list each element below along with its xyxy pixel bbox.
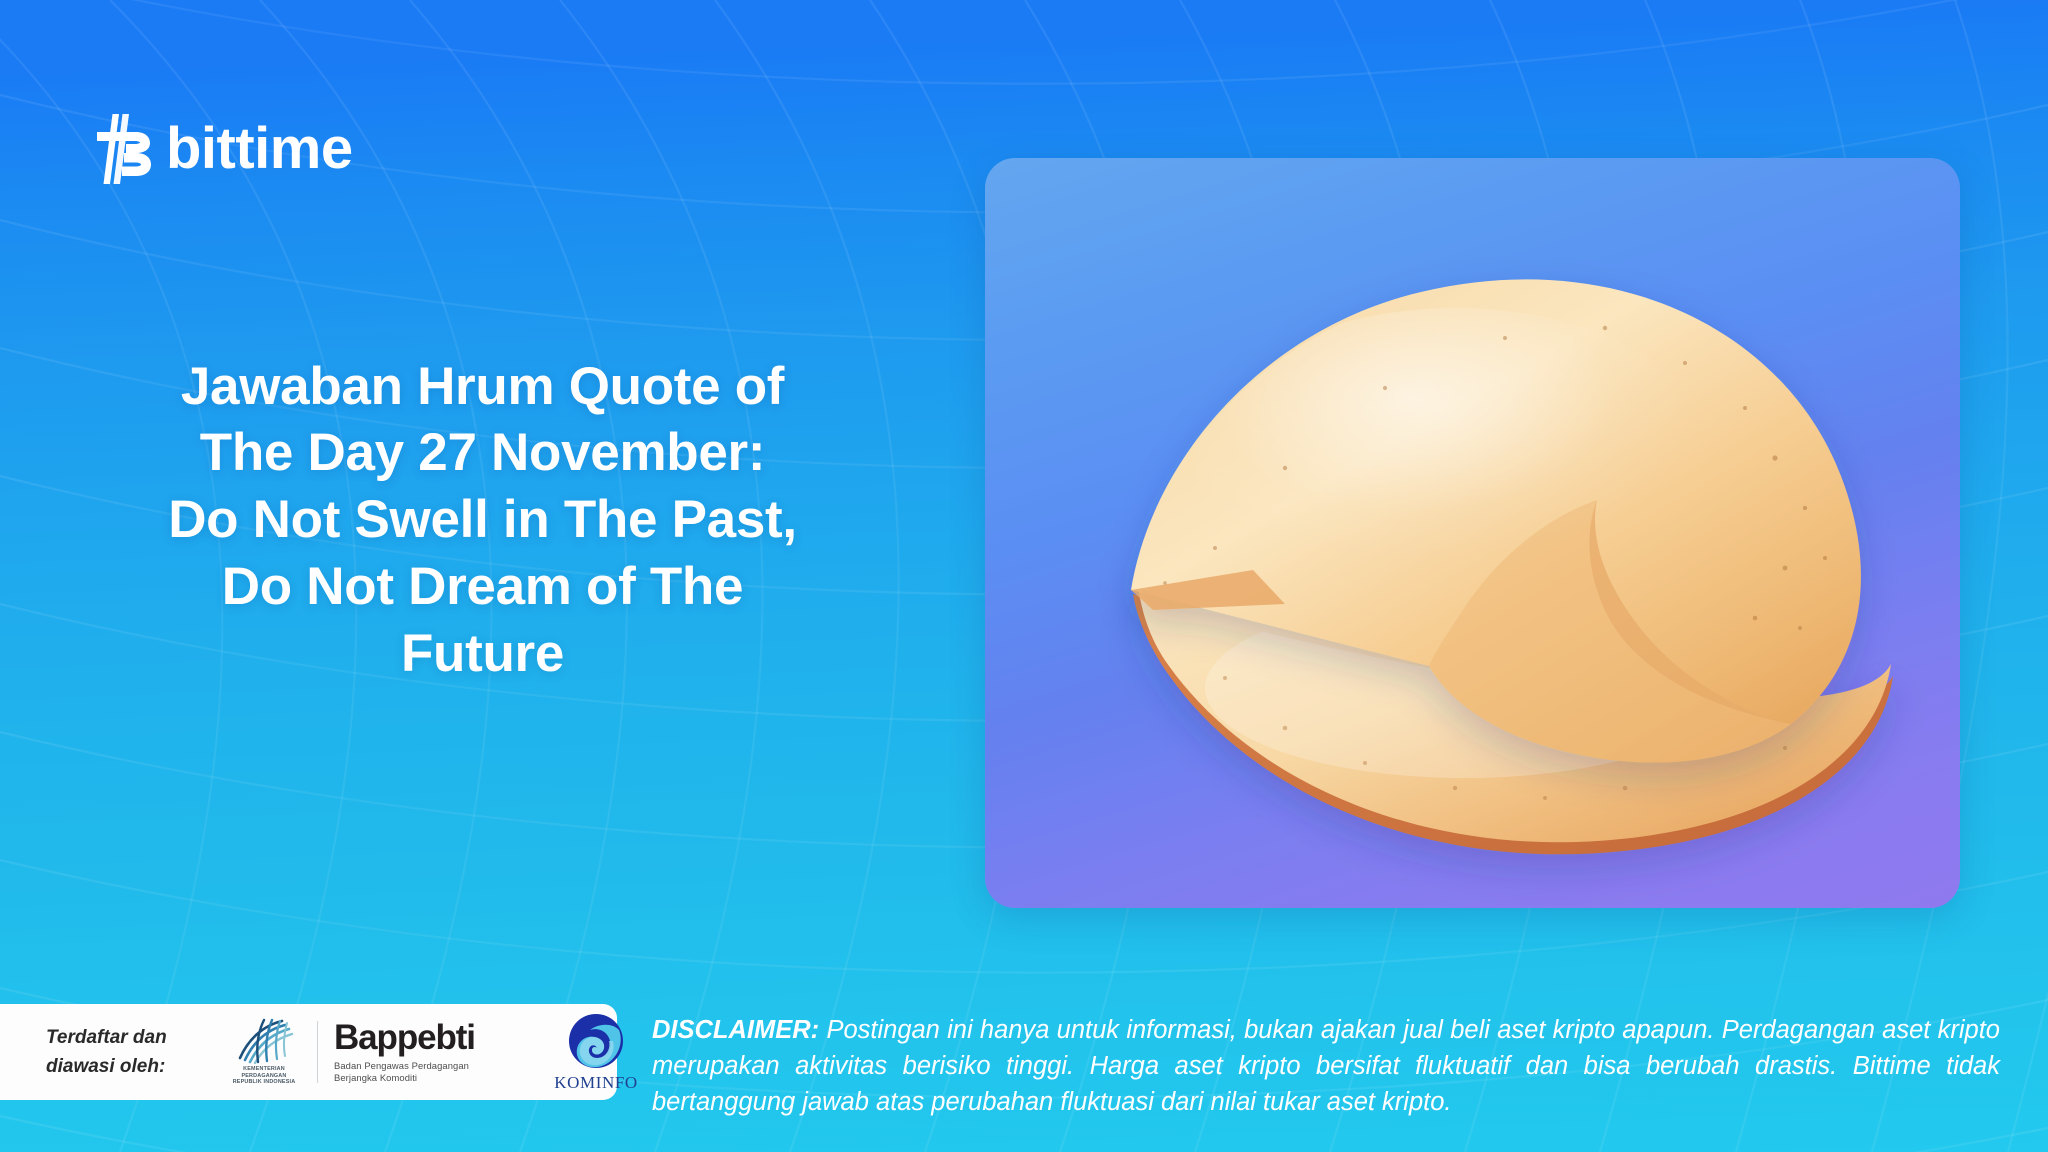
brand-name: bittime xyxy=(166,120,353,178)
bappebti-sub-line1: Badan Pengawas Perdagangan xyxy=(334,1060,534,1072)
kemendag-caption: KEMENTERIAN PERDAGANGAN REPUBLIK INDONES… xyxy=(233,1066,296,1086)
bappebti-title: Bappebti xyxy=(334,1020,534,1055)
badge-lead-line1: Terdaftar dan xyxy=(46,1023,221,1052)
bappebti-subtitle: Badan Pengawas Perdagangan Berjangka Kom… xyxy=(334,1060,534,1085)
hero-image-card xyxy=(985,158,1960,908)
headline-line: Future xyxy=(60,621,905,688)
badge-divider xyxy=(317,1021,318,1083)
kemendag-caption-line1: KEMENTERIAN xyxy=(233,1066,296,1073)
poster-canvas: bittime Jawaban Hrum Quote of The Day 27… xyxy=(0,0,2048,1152)
kementerian-perdagangan-logo-icon xyxy=(234,1018,294,1064)
kementerian-perdagangan-logo: KEMENTERIAN PERDAGANGAN REPUBLIK INDONES… xyxy=(225,1015,303,1089)
badge-lead-line2: diawasi oleh: xyxy=(46,1052,221,1081)
kominfo-logo: KOMINFO xyxy=(548,1012,644,1093)
kemendag-caption-line3: REPUBLIK INDONESIA xyxy=(233,1079,296,1086)
headline-line: Do Not Swell in The Past, xyxy=(60,487,905,554)
brand-logo[interactable]: bittime xyxy=(92,112,353,186)
headline-line: The Day 27 November: xyxy=(60,420,905,487)
badge-lead-text: Terdaftar dan diawasi oleh: xyxy=(46,1023,221,1082)
bappebti-logo: Bappebti Badan Pengawas Perdagangan Berj… xyxy=(334,1020,534,1085)
disclaimer-label: DISCLAIMER: xyxy=(652,1016,819,1044)
kemendag-caption-line2: PERDAGANGAN xyxy=(233,1073,296,1080)
page-title: Jawaban Hrum Quote of The Day 27 Novembe… xyxy=(60,354,905,688)
fortune-cookie-illustration xyxy=(985,158,1960,908)
headline-line: Jawaban Hrum Quote of xyxy=(60,354,905,421)
bittime-b-mark-icon xyxy=(92,112,152,186)
bappebti-sub-line2: Berjangka Komoditi xyxy=(334,1072,534,1084)
kominfo-label: KOMINFO xyxy=(554,1073,638,1093)
kominfo-swirl-logo-icon xyxy=(565,1012,627,1072)
disclaimer-body: Postingan ini hanya untuk informasi, buk… xyxy=(652,1016,2000,1116)
headline-line: Do Not Dream of The xyxy=(60,554,905,621)
disclaimer-text: DISCLAIMER: Postingan ini hanya untuk in… xyxy=(652,1012,2000,1121)
regulator-badge-bar: Terdaftar dan diawasi oleh: KEMENTERIAN xyxy=(0,1004,617,1100)
